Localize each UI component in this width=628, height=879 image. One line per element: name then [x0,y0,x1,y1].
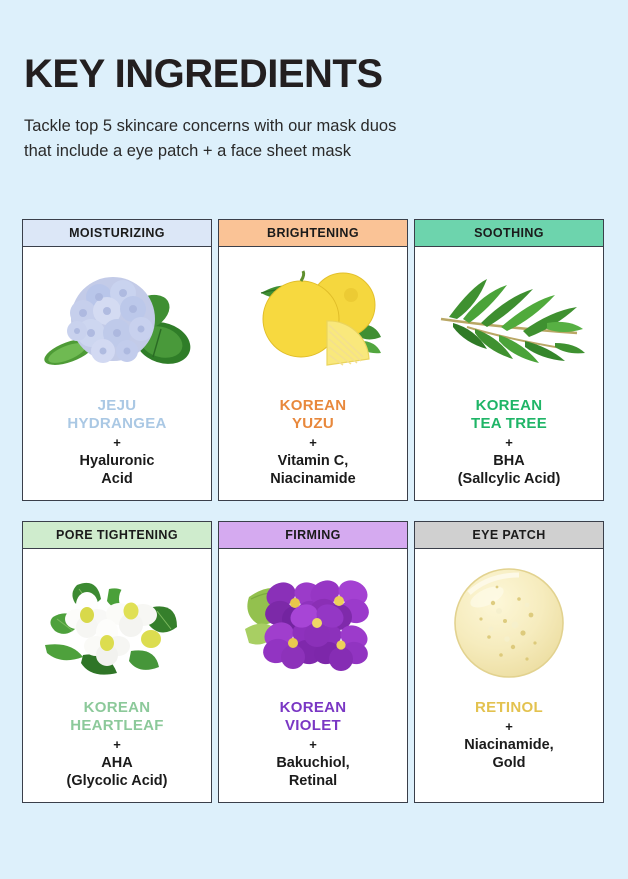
ingredient-card-brightening[interactable]: BRIGHTENING [218,219,408,501]
card-body: KOREAN YUZU + Vitamin C, Niacinamide [219,247,407,500]
ingredient-card-eye-patch[interactable]: EYE PATCH [414,521,604,803]
hero-ingredient-name: JEJU HYDRANGEA [67,397,166,433]
ingredient-card-soothing[interactable]: SOOTHING [414,219,604,501]
card-body: KOREAN TEA TREE + BHA (Sallcylic Acid) [415,247,603,500]
card-body: KOREAN VIOLET + Bakuchiol, Retinal [219,549,407,802]
card-body: JEJU HYDRANGEA + Hyaluronic Acid [23,247,211,500]
ingredient-row-2: PORE TIGHTENING [22,521,606,803]
heartleaf-icon [35,559,199,691]
subtitle-line-2: that include a eye patch + a face sheet … [24,139,604,164]
ingredient-card-firming[interactable]: FIRMING [218,521,408,803]
yuzu-icon [231,257,395,389]
card-banner: PORE TIGHTENING [23,522,211,549]
card-banner: FIRMING [219,522,407,549]
card-banner: EYE PATCH [415,522,603,549]
secondary-ingredient-name: AHA (Glycolic Acid) [67,754,168,790]
secondary-ingredient-name: Niacinamide, Gold [464,736,553,772]
ingredient-grid: MOISTURIZING [22,219,606,803]
card-banner: BRIGHTENING [219,220,407,247]
hero-ingredient-name: KOREAN YUZU [280,397,347,433]
card-banner: MOISTURIZING [23,220,211,247]
secondary-ingredient-name: Hyaluronic Acid [80,452,155,488]
plus-symbol: + [505,434,513,451]
violet-icon [231,559,395,691]
hydrangea-icon [35,257,199,389]
ingredient-row-1: MOISTURIZING [22,219,606,501]
secondary-ingredient-name: Bakuchiol, Retinal [276,754,349,790]
plus-symbol: + [113,434,121,451]
card-body: KOREAN HEARTLEAF + AHA (Glycolic Acid) [23,549,211,802]
plus-symbol: + [113,736,121,753]
gel-patch-icon [427,559,591,691]
hero-ingredient-name: KOREAN HEARTLEAF [70,699,164,735]
ingredient-card-moisturizing[interactable]: MOISTURIZING [22,219,212,501]
tea-tree-icon [427,257,591,389]
plus-symbol: + [505,718,513,735]
secondary-ingredient-name: BHA (Sallcylic Acid) [458,452,561,488]
page-title: KEY INGREDIENTS [24,52,604,96]
ingredient-card-pore-tightening[interactable]: PORE TIGHTENING [22,521,212,803]
hero-ingredient-name: KOREAN TEA TREE [471,397,547,433]
infographic-page: KEY INGREDIENTS Tackle top 5 skincare co… [0,0,628,879]
hero-ingredient-name: KOREAN VIOLET [280,699,347,735]
secondary-ingredient-name: Vitamin C, Niacinamide [270,452,355,488]
card-body: RETINOL + Niacinamide, Gold [415,549,603,802]
plus-symbol: + [309,736,317,753]
card-banner: SOOTHING [415,220,603,247]
plus-symbol: + [309,434,317,451]
header: KEY INGREDIENTS Tackle top 5 skincare co… [0,0,628,164]
hero-ingredient-name: RETINOL [475,699,543,717]
subtitle-line-1: Tackle top 5 skincare concerns with our … [24,114,604,139]
